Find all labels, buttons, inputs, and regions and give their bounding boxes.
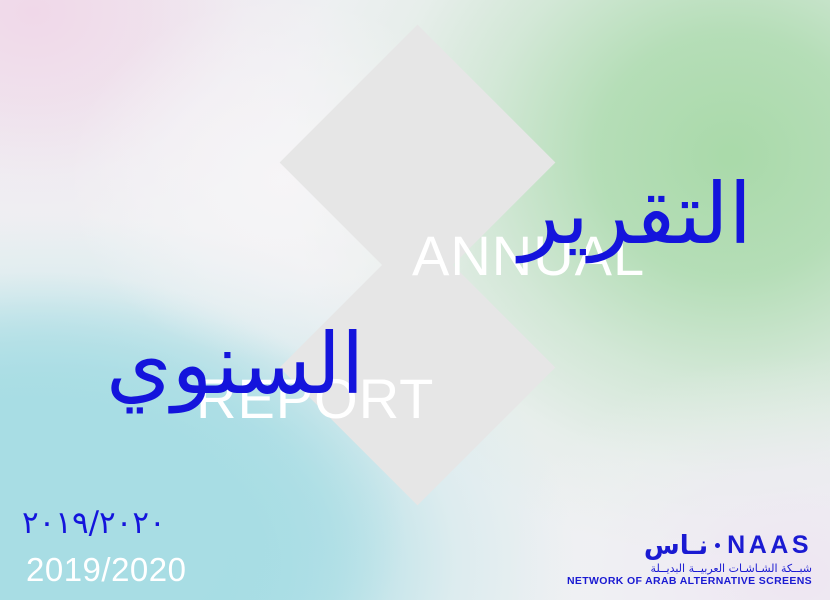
logo-dot-icon — [715, 543, 720, 548]
year-arabic: ٢٠١٩/٢٠٢٠ — [22, 508, 166, 539]
logo-latin-name: NAAS — [727, 533, 812, 558]
logo-wordmark-row: نـاس NAAS — [567, 533, 812, 559]
title-arabic-line2: السنوي — [106, 322, 364, 406]
logo-arabic-tagline: شبــكة الشـاشـات العربيــة البديــلة — [567, 563, 812, 574]
logo-latin-tagline: NETWORK OF ARAB ALTERNATIVE SCREENS — [567, 576, 812, 587]
logo-arabic-name: نـاس — [644, 533, 708, 559]
title-arabic-line1: التقرير — [519, 172, 752, 256]
annual-report-cover: ANNUAL REPORT التقرير السنوي ٢٠١٩/٢٠٢٠ 2… — [0, 0, 830, 600]
year-latin: 2019/2020 — [26, 553, 187, 586]
naas-logo: نـاس NAAS شبــكة الشـاشـات العربيــة الب… — [567, 533, 812, 587]
